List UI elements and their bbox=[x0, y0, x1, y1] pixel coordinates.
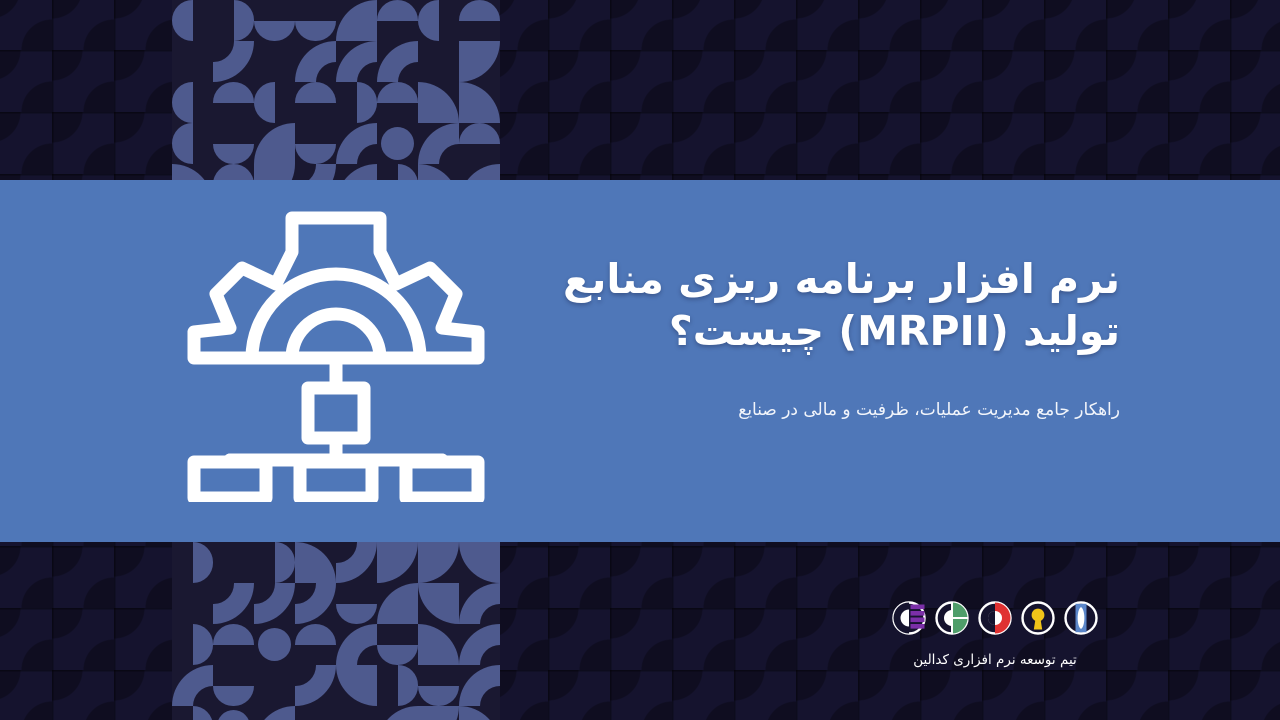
pattern-cell bbox=[459, 82, 500, 123]
pattern-cell bbox=[418, 123, 459, 164]
title-line-2: تولید (MRPII) چیست؟ bbox=[480, 305, 1120, 357]
pattern-cell bbox=[336, 123, 377, 164]
pattern-cell bbox=[213, 665, 254, 706]
pattern-cell bbox=[254, 583, 295, 624]
pattern-cell bbox=[418, 624, 459, 665]
slide-root: نرم افزار برنامه ریزی منابع تولید (MRPII… bbox=[0, 0, 1280, 720]
pattern-cell bbox=[459, 542, 500, 583]
pattern-cell bbox=[213, 542, 254, 583]
pattern-cell bbox=[336, 665, 377, 706]
pattern-cell bbox=[377, 665, 418, 706]
pattern-cell bbox=[377, 82, 418, 123]
pattern-cell bbox=[254, 164, 295, 180]
pattern-cell bbox=[213, 0, 254, 41]
pattern-cell bbox=[377, 164, 418, 180]
pattern-cell bbox=[213, 583, 254, 624]
pattern-cell bbox=[295, 665, 336, 706]
pattern-cell bbox=[377, 41, 418, 82]
pattern-cell bbox=[254, 123, 295, 164]
footer-caption: تیم توسعه نرم افزاری کدالین bbox=[875, 652, 1115, 668]
pattern-cell bbox=[213, 624, 254, 665]
pattern-cell bbox=[418, 583, 459, 624]
pattern-cell bbox=[336, 0, 377, 41]
pattern-cell bbox=[254, 624, 295, 665]
pattern-cell bbox=[459, 123, 500, 164]
pattern-cell bbox=[295, 164, 336, 180]
pattern-cell bbox=[336, 41, 377, 82]
pattern-cell bbox=[295, 624, 336, 665]
pattern-cell bbox=[418, 41, 459, 82]
pattern-cell bbox=[172, 665, 213, 706]
pattern-cell bbox=[418, 542, 459, 583]
pattern-cell bbox=[172, 0, 213, 41]
logo-mark-gold-keyhole bbox=[1020, 600, 1056, 636]
pattern-cell bbox=[418, 706, 459, 720]
title-line-1: نرم افزار برنامه ریزی منابع bbox=[480, 253, 1120, 305]
pattern-cell bbox=[459, 624, 500, 665]
pattern-strip-top bbox=[172, 0, 500, 180]
pattern-cell bbox=[377, 0, 418, 41]
pattern-cell bbox=[254, 0, 295, 41]
slide-subtitle: راهکار جامع مدیریت عملیات، ظرفیت و مالی … bbox=[480, 398, 1120, 424]
pattern-cell bbox=[254, 542, 295, 583]
pattern-cell bbox=[295, 0, 336, 41]
pattern-cell bbox=[254, 706, 295, 720]
pattern-cell bbox=[336, 583, 377, 624]
pattern-cell bbox=[213, 82, 254, 123]
pattern-cell bbox=[213, 123, 254, 164]
pattern-cell bbox=[295, 123, 336, 164]
pattern-cell bbox=[377, 706, 418, 720]
pattern-cell bbox=[418, 82, 459, 123]
pattern-cell bbox=[172, 123, 213, 164]
pattern-cell bbox=[377, 624, 418, 665]
pattern-cell bbox=[254, 82, 295, 123]
page-title: نرم افزار برنامه ریزی منابع تولید (MRPII… bbox=[480, 253, 1120, 358]
pattern-cell bbox=[459, 41, 500, 82]
pattern-cell bbox=[377, 583, 418, 624]
pattern-cell bbox=[254, 41, 295, 82]
logo-mark-green-quad bbox=[934, 600, 970, 636]
pattern-cell bbox=[172, 542, 213, 583]
pattern-cell bbox=[295, 82, 336, 123]
pattern-cell bbox=[377, 542, 418, 583]
pattern-cell bbox=[172, 164, 213, 180]
pattern-cell bbox=[336, 624, 377, 665]
pattern-cell bbox=[213, 164, 254, 180]
pattern-cell bbox=[336, 164, 377, 180]
pattern-cell bbox=[459, 0, 500, 41]
pattern-cell bbox=[459, 706, 500, 720]
pattern-cell bbox=[459, 164, 500, 180]
pattern-cell bbox=[295, 542, 336, 583]
pattern-cell bbox=[172, 706, 213, 720]
logo-mark-purple-bars bbox=[891, 600, 927, 636]
gear-hierarchy-icon bbox=[186, 210, 486, 502]
pattern-cell bbox=[418, 164, 459, 180]
logo-mark-red-split bbox=[977, 600, 1013, 636]
pattern-cell bbox=[336, 706, 377, 720]
logo-row bbox=[875, 600, 1115, 636]
pattern-cell bbox=[459, 583, 500, 624]
pattern-cell bbox=[336, 82, 377, 123]
pattern-cell bbox=[336, 542, 377, 583]
pattern-cell bbox=[213, 41, 254, 82]
pattern-cell bbox=[213, 706, 254, 720]
pattern-cell bbox=[295, 706, 336, 720]
pattern-cell bbox=[172, 82, 213, 123]
logo-mark-blue-bar bbox=[1063, 600, 1099, 636]
pattern-cell bbox=[418, 665, 459, 706]
pattern-cell bbox=[295, 583, 336, 624]
pattern-cell bbox=[254, 665, 295, 706]
pattern-cell bbox=[172, 624, 213, 665]
pattern-cell bbox=[418, 0, 459, 41]
pattern-cell bbox=[172, 41, 213, 82]
pattern-cell bbox=[295, 41, 336, 82]
pattern-cell bbox=[459, 665, 500, 706]
pattern-cell bbox=[377, 123, 418, 164]
slide-footer: تیم توسعه نرم افزاری کدالین bbox=[875, 600, 1115, 668]
pattern-strip-bottom bbox=[172, 542, 500, 720]
pattern-cell bbox=[172, 583, 213, 624]
